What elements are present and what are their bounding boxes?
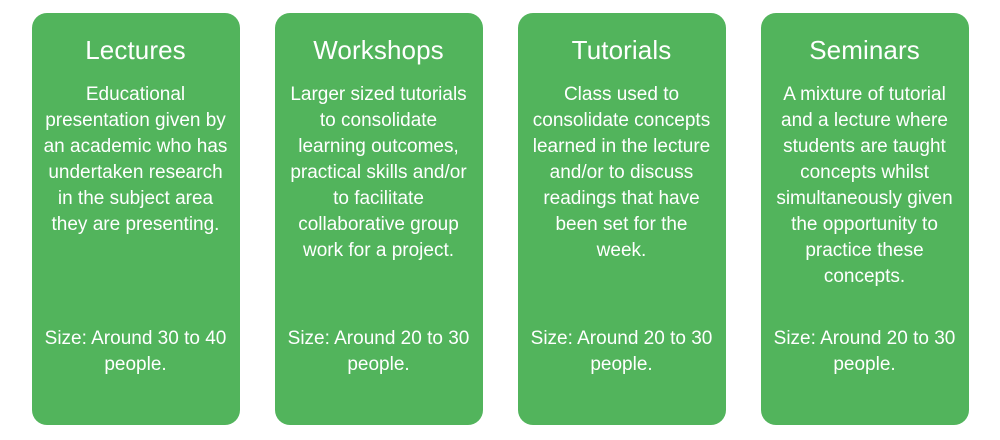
card-size-tutorials: Size: Around 20 to 30 people. xyxy=(528,326,716,378)
card-description-lectures: Educational presentation given by an aca… xyxy=(42,82,230,238)
card-description-workshops: Larger sized tutorials to consolidate le… xyxy=(285,82,473,264)
class-type-card-tutorials: Tutorials Class used to consolidate conc… xyxy=(518,13,726,425)
card-title-seminars: Seminars xyxy=(771,35,959,65)
class-type-card-seminars: Seminars A mixture of tutorial and a lec… xyxy=(761,13,969,425)
card-size-workshops: Size: Around 20 to 30 people. xyxy=(285,326,473,378)
card-title-workshops: Workshops xyxy=(285,35,473,65)
card-size-lectures: Size: Around 30 to 40 people. xyxy=(42,326,230,378)
card-title-lectures: Lectures xyxy=(42,35,230,65)
class-type-card-grid: Lectures Educational presentation given … xyxy=(0,0,1000,440)
class-type-card-lectures: Lectures Educational presentation given … xyxy=(32,13,240,425)
class-type-card-workshops: Workshops Larger sized tutorials to cons… xyxy=(275,13,483,425)
card-title-tutorials: Tutorials xyxy=(528,35,716,65)
card-description-tutorials: Class used to consolidate concepts learn… xyxy=(528,82,716,264)
card-size-seminars: Size: Around 20 to 30 people. xyxy=(771,326,959,378)
card-description-seminars: A mixture of tutorial and a lecture wher… xyxy=(771,82,959,290)
